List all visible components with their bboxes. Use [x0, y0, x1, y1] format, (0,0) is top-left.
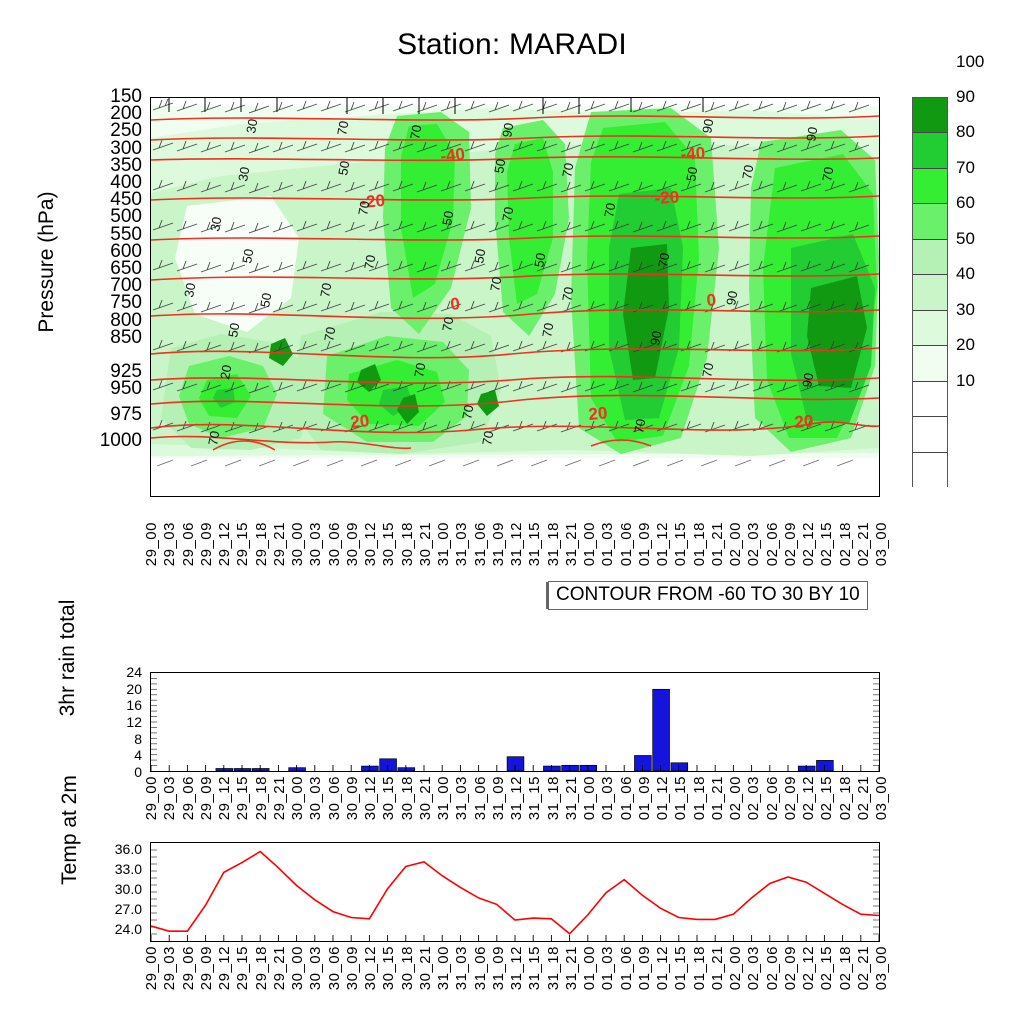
- temp-xtick-31_21: 31_21: [563, 946, 580, 990]
- svg-text:70: 70: [559, 286, 576, 303]
- temp-xtick-29_00: 29_00: [143, 946, 160, 990]
- rain-bar-30_18: [398, 768, 415, 771]
- main-xtick-31_12: 31_12: [508, 522, 525, 566]
- colorbar-cell-7: [913, 204, 947, 239]
- temp-xtick-02_06: 02_06: [764, 946, 781, 990]
- rain-xtick-01_12: 01_12: [654, 776, 671, 820]
- rain-xtick-29_15: 29_15: [234, 776, 251, 820]
- main-xtick-29_12: 29_12: [216, 522, 233, 566]
- main-xtick-02_03: 02_03: [745, 522, 762, 566]
- colorbar-cell-2: [913, 382, 947, 417]
- meteogram-svg: -40 -40 -20 -20 0 0 20 20 20 30 70 70 90…: [151, 98, 879, 496]
- rain-bar-29_15: [234, 769, 251, 771]
- temp-series-line: [151, 852, 879, 934]
- colorbar-cell-1: [913, 417, 947, 452]
- svg-text:70: 70: [739, 164, 756, 181]
- rain-xtick-31_18: 31_18: [545, 776, 562, 820]
- temp-xtick-31_12: 31_12: [508, 946, 525, 990]
- rain-xtick-30_00: 30_00: [289, 776, 306, 820]
- svg-text:50: 50: [257, 292, 274, 309]
- rain-xtick-01_06: 01_06: [618, 776, 635, 820]
- temp-xtick-31_00: 31_00: [435, 946, 452, 990]
- rain-bar-02_15: [817, 760, 834, 771]
- svg-text:70: 70: [601, 202, 618, 219]
- svg-text:70: 70: [539, 322, 556, 339]
- svg-text:90: 90: [803, 126, 820, 143]
- rain-xtick-30_09: 30_09: [344, 776, 361, 820]
- svg-text:30: 30: [235, 166, 252, 183]
- main-xtick-02_15: 02_15: [818, 522, 835, 566]
- svg-text:30: 30: [207, 216, 224, 233]
- rain-bar-31_21: [562, 765, 579, 771]
- main-xtick-29_03: 29_03: [161, 522, 178, 566]
- svg-text:90: 90: [499, 122, 516, 139]
- rain-xtick-31_03: 31_03: [453, 776, 470, 820]
- main-xtick-31_00: 31_00: [435, 522, 452, 566]
- svg-text:70: 70: [559, 162, 576, 179]
- main-xtick-02_00: 02_00: [727, 522, 744, 566]
- main-xtick-29_00: 29_00: [143, 522, 160, 566]
- temp-xtick-01_03: 01_03: [599, 946, 616, 990]
- svg-text:50: 50: [491, 158, 508, 175]
- rain-xtick-01_21: 01_21: [709, 776, 726, 820]
- main-xtick-30_15: 30_15: [380, 522, 397, 566]
- rain-xtick-31_09: 31_09: [490, 776, 507, 820]
- svg-text:30: 30: [181, 282, 198, 299]
- temp-xtick-29_09: 29_09: [198, 946, 215, 990]
- svg-text:20: 20: [349, 411, 370, 432]
- svg-text:50: 50: [531, 252, 548, 269]
- rain-bar-30_15: [380, 759, 397, 771]
- main-xtick-29_06: 29_06: [180, 522, 197, 566]
- temp-xtick-31_03: 31_03: [453, 946, 470, 990]
- temp-xtick-29_06: 29_06: [180, 946, 197, 990]
- svg-text:70: 70: [355, 200, 372, 217]
- temp-xtick-31_06: 31_06: [472, 946, 489, 990]
- rain-xtick-02_15: 02_15: [818, 776, 835, 820]
- svg-text:70: 70: [487, 276, 504, 293]
- rain-xtick-31_12: 31_12: [508, 776, 525, 820]
- main-xtick-01_00: 01_00: [581, 522, 598, 566]
- temp-xtick-29_18: 29_18: [253, 946, 270, 990]
- main-xtick-29_15: 29_15: [234, 522, 251, 566]
- svg-text:70: 70: [631, 418, 648, 435]
- rain-xtick-30_15: 30_15: [380, 776, 397, 820]
- rain-bar-01_09: [635, 756, 652, 772]
- rain-bar-01_15: [671, 763, 688, 771]
- page-title: Station: MARADI: [0, 28, 1024, 62]
- temp-line-chart[interactable]: [150, 842, 880, 942]
- temp-xtick-31_15: 31_15: [526, 946, 543, 990]
- svg-text:0: 0: [706, 290, 717, 310]
- minor-tick-rail: [151, 678, 879, 765]
- svg-text:90: 90: [647, 330, 664, 347]
- temp-line-svg: [151, 843, 879, 941]
- relative-humidity-colorbar[interactable]: [912, 97, 948, 487]
- main-xtick-29_09: 29_09: [198, 522, 215, 566]
- main-xtick-30_12: 30_12: [362, 522, 379, 566]
- rain-bar-31_12: [507, 757, 524, 771]
- temp-xtick-30_12: 30_12: [362, 946, 379, 990]
- temp-xtick-02_00: 02_00: [727, 946, 744, 990]
- colorbar-cell-5: [913, 275, 947, 310]
- colorbar-label-60: 60: [956, 193, 975, 213]
- main-xtick-30_21: 30_21: [417, 522, 434, 566]
- temp-xtick-29_12: 29_12: [216, 946, 233, 990]
- rain-xtick-31_21: 31_21: [563, 776, 580, 820]
- temp-xtick-03_00: 03_00: [873, 946, 890, 990]
- rain-xtick-31_15: 31_15: [526, 776, 543, 820]
- temp-xtick-30_03: 30_03: [307, 946, 324, 990]
- svg-text:50: 50: [335, 160, 352, 177]
- rain-xtick-02_06: 02_06: [764, 776, 781, 820]
- main-xtick-01_15: 01_15: [672, 522, 689, 566]
- svg-text:50: 50: [471, 248, 488, 265]
- temp-xtick-30_09: 30_09: [344, 946, 361, 990]
- rain-xtick-30_18: 30_18: [399, 776, 416, 820]
- minor-tick-rail: [151, 850, 879, 934]
- temp-ytick-30.0: 30.0: [115, 881, 142, 897]
- main-xtick-31_03: 31_03: [453, 522, 470, 566]
- colorbar-cell-0: [913, 453, 947, 488]
- colorbar-cell-4: [913, 311, 947, 346]
- x-tick-rail: [151, 765, 879, 771]
- temp-xtick-29_03: 29_03: [161, 946, 178, 990]
- rain-xtick-29_12: 29_12: [216, 776, 233, 820]
- temp-xtick-02_12: 02_12: [800, 946, 817, 990]
- vertical-profile-meteogram[interactable]: -40 -40 -20 -20 0 0 20 20 20 30 70 70 90…: [150, 97, 880, 497]
- temp-panel-ytick-group: 24.027.030.033.036.0: [88, 0, 142, 1024]
- svg-text:90: 90: [699, 118, 716, 135]
- colorbar-label-100: 100: [956, 52, 984, 72]
- main-xtick-01_12: 01_12: [654, 522, 671, 566]
- temp-xtick-30_00: 30_00: [289, 946, 306, 990]
- colorbar-label-70: 70: [956, 158, 975, 178]
- svg-text:70: 70: [655, 252, 672, 269]
- temp-xtick-02_15: 02_15: [818, 946, 835, 990]
- main-xtick-31_06: 31_06: [472, 522, 489, 566]
- temp-xtick-01_18: 01_18: [691, 946, 708, 990]
- temp-xtick-02_21: 02_21: [855, 946, 872, 990]
- rain-bar-02_12: [798, 766, 815, 771]
- temp-xtick-01_15: 01_15: [672, 946, 689, 990]
- main-xtick-29_21: 29_21: [271, 522, 288, 566]
- colorbar-label-10: 10: [956, 371, 975, 391]
- rain-xtick-02_21: 02_21: [855, 776, 872, 820]
- main-xtick-03_00: 03_00: [873, 522, 890, 566]
- temp-xtick-01_00: 01_00: [581, 946, 598, 990]
- temp-ytick-24.0: 24.0: [115, 921, 142, 937]
- rain-xtick-02_12: 02_12: [800, 776, 817, 820]
- svg-text:-40: -40: [439, 145, 465, 166]
- temp-xtick-29_21: 29_21: [271, 946, 288, 990]
- temp-xtick-29_15: 29_15: [234, 946, 251, 990]
- x-tick-rail: [151, 935, 879, 941]
- main-xtick-01_09: 01_09: [636, 522, 653, 566]
- colorbar-label-80: 80: [956, 122, 975, 142]
- temp-xtick-02_09: 02_09: [782, 946, 799, 990]
- rain-xtick-30_03: 30_03: [307, 776, 324, 820]
- main-panel-ylabel: Pressure (hPa): [35, 97, 59, 427]
- rain-xtick-02_00: 02_00: [727, 776, 744, 820]
- svg-text:70: 70: [205, 430, 222, 447]
- svg-text:70: 70: [411, 362, 428, 379]
- main-xtick-31_18: 31_18: [545, 522, 562, 566]
- rain-xtick-29_00: 29_00: [143, 776, 160, 820]
- main-xtick-30_09: 30_09: [344, 522, 361, 566]
- rain-xtick-02_18: 02_18: [837, 776, 854, 820]
- rain-bar-29_18: [252, 769, 269, 771]
- svg-text:70: 70: [361, 254, 378, 271]
- rain-xtick-01_15: 01_15: [672, 776, 689, 820]
- rain-xtick-30_12: 30_12: [362, 776, 379, 820]
- main-xtick-31_15: 31_15: [526, 522, 543, 566]
- temp-xtick-01_21: 01_21: [709, 946, 726, 990]
- temp-xtick-02_18: 02_18: [837, 946, 854, 990]
- svg-text:20: 20: [217, 364, 234, 381]
- main-xtick-02_06: 02_06: [764, 522, 781, 566]
- main-xtick-31_21: 31_21: [563, 522, 580, 566]
- contour-legend: CONTOUR FROM -60 TO 30 BY 10: [548, 581, 868, 610]
- temp-xtick-30_06: 30_06: [326, 946, 343, 990]
- rain-bar-01_12: [653, 689, 670, 771]
- main-xtick-29_18: 29_18: [253, 522, 270, 566]
- svg-text:70: 70: [819, 166, 836, 183]
- temp-xtick-30_21: 30_21: [417, 946, 434, 990]
- colorbar-cell-9: [913, 133, 947, 168]
- temp-panel-ylabel: Temp at 2m: [58, 700, 82, 960]
- rain-bars-svg: [151, 673, 879, 771]
- colorbar-label-40: 40: [956, 264, 975, 284]
- svg-text:50: 50: [439, 210, 456, 227]
- svg-text:70: 70: [699, 362, 716, 379]
- rain-xtick-30_06: 30_06: [326, 776, 343, 820]
- svg-text:70: 70: [317, 282, 334, 299]
- colorbar-cell-8: [913, 169, 947, 204]
- main-xtick-30_00: 30_00: [289, 522, 306, 566]
- rain-bar-30_12: [362, 766, 379, 771]
- rain-xtick-03_00: 03_00: [873, 776, 890, 820]
- rain-xtick-29_21: 29_21: [271, 776, 288, 820]
- svg-text:70: 70: [439, 316, 456, 333]
- rain-xtick-30_21: 30_21: [417, 776, 434, 820]
- main-xtick-01_06: 01_06: [618, 522, 635, 566]
- rain-xtick-29_06: 29_06: [180, 776, 197, 820]
- main-xtick-02_18: 02_18: [837, 522, 854, 566]
- colorbar-cell-10: [913, 98, 947, 133]
- main-xtick-30_06: 30_06: [326, 522, 343, 566]
- svg-text:-40: -40: [680, 143, 706, 164]
- main-xtick-31_09: 31_09: [490, 522, 507, 566]
- svg-text:70: 70: [459, 404, 476, 421]
- main-xtick-02_09: 02_09: [782, 522, 799, 566]
- temp-ytick-27.0: 27.0: [115, 901, 142, 917]
- colorbar-cell-6: [913, 240, 947, 275]
- rain-bar-01_00: [580, 765, 597, 771]
- temp-xtick-01_09: 01_09: [636, 946, 653, 990]
- svg-text:70: 70: [479, 430, 496, 447]
- rain-bar-chart[interactable]: [150, 672, 880, 772]
- svg-text:70: 70: [321, 326, 338, 343]
- svg-text:30: 30: [243, 118, 260, 135]
- svg-text:70: 70: [407, 124, 424, 141]
- svg-text:-20: -20: [654, 187, 680, 208]
- rain-xtick-01_09: 01_09: [636, 776, 653, 820]
- colorbar-label-20: 20: [956, 335, 975, 355]
- svg-text:0: 0: [449, 294, 460, 314]
- rain-xtick-01_03: 01_03: [599, 776, 616, 820]
- temp-xtick-30_18: 30_18: [399, 946, 416, 990]
- main-xtick-30_18: 30_18: [399, 522, 416, 566]
- temp-xtick-01_06: 01_06: [618, 946, 635, 990]
- rain-xtick-29_03: 29_03: [161, 776, 178, 820]
- temp-xtick-30_15: 30_15: [380, 946, 397, 990]
- rain-bar-30_00: [289, 768, 306, 771]
- colorbar-cell-3: [913, 346, 947, 381]
- rain-xtick-29_18: 29_18: [253, 776, 270, 820]
- svg-text:70: 70: [334, 120, 351, 137]
- temp-xtick-02_03: 02_03: [745, 946, 762, 990]
- main-xtick-01_21: 01_21: [709, 522, 726, 566]
- colorbar-label-90: 90: [956, 87, 975, 107]
- svg-text:50: 50: [239, 248, 256, 265]
- main-xtick-02_12: 02_12: [800, 522, 817, 566]
- svg-text:90: 90: [723, 290, 740, 307]
- temp-xtick-31_18: 31_18: [545, 946, 562, 990]
- rain-xtick-02_09: 02_09: [782, 776, 799, 820]
- main-xtick-01_03: 01_03: [599, 522, 616, 566]
- rain-xtick-01_00: 01_00: [581, 776, 598, 820]
- temp-xtick-31_09: 31_09: [490, 946, 507, 990]
- temp-ytick-33.0: 33.0: [115, 861, 142, 877]
- rain-xtick-02_03: 02_03: [745, 776, 762, 820]
- rain-bar-31_18: [544, 766, 561, 771]
- svg-text:70: 70: [499, 206, 516, 223]
- rain-xtick-31_06: 31_06: [472, 776, 489, 820]
- temp-xtick-01_12: 01_12: [654, 946, 671, 990]
- svg-text:20: 20: [588, 403, 609, 424]
- rain-bar-29_12: [216, 769, 233, 771]
- rain-xtick-31_00: 31_00: [435, 776, 452, 820]
- main-xtick-02_21: 02_21: [855, 522, 872, 566]
- temp-ytick-36.0: 36.0: [115, 841, 142, 857]
- rain-xtick-01_18: 01_18: [691, 776, 708, 820]
- rain-xtick-29_09: 29_09: [198, 776, 215, 820]
- main-xtick-30_03: 30_03: [307, 522, 324, 566]
- colorbar-label-30: 30: [956, 300, 975, 320]
- svg-text:50: 50: [225, 322, 242, 339]
- main-xtick-01_18: 01_18: [691, 522, 708, 566]
- svg-text:90: 90: [799, 372, 816, 389]
- svg-text:20: 20: [794, 411, 815, 432]
- colorbar-label-50: 50: [956, 229, 975, 249]
- svg-text:50: 50: [683, 166, 700, 183]
